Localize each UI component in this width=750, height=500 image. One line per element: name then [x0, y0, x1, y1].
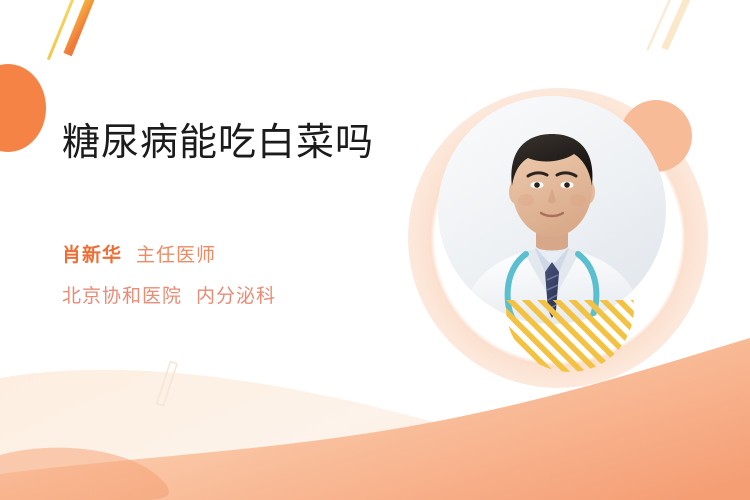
top-left-stripes-decoration [18, 0, 148, 88]
gold-striped-circle-decoration [506, 300, 634, 372]
page-title: 糖尿病能吃白菜吗 [62, 118, 422, 168]
doctor-department: 内分泌科 [196, 281, 276, 308]
doctor-byline: 肖新华 主任医师 北京协和医院 内分泌科 [62, 240, 462, 308]
ghost-slash-decoration [148, 360, 188, 410]
headline-block: 糖尿病能吃白菜吗 [62, 118, 422, 168]
doctor-portrait-illustration [438, 96, 666, 324]
orange-circle-decoration [0, 64, 46, 152]
doctor-affiliation-row: 北京协和医院 内分泌科 [62, 281, 462, 308]
top-right-stripes-decoration [618, 0, 738, 80]
doctor-rank: 主任医师 [136, 240, 216, 267]
doctor-name: 肖新华 [62, 240, 122, 267]
doctor-info-card: 糖尿病能吃白菜吗 肖新华 主任医师 北京协和医院 内分泌科 [0, 0, 750, 500]
doctor-hospital: 北京协和医院 [62, 281, 182, 308]
doctor-name-row: 肖新华 主任医师 [62, 240, 462, 267]
doctor-photo [438, 96, 666, 324]
